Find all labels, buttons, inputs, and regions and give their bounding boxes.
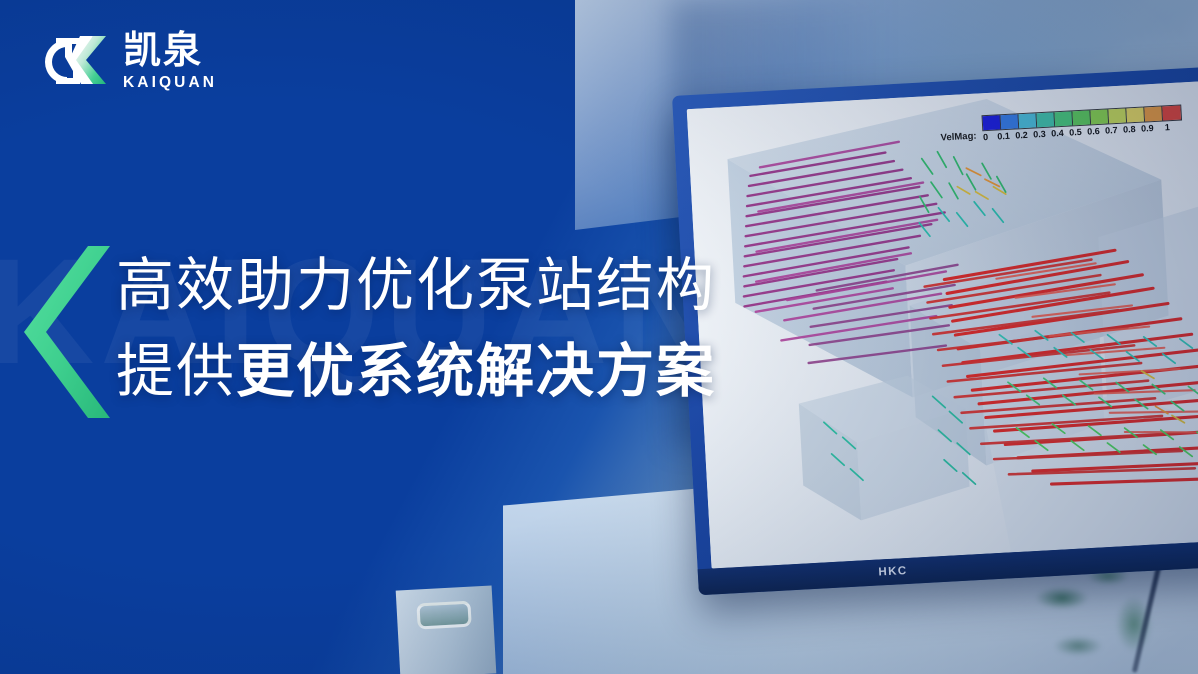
brand-name-cn: 凯泉 — [123, 32, 217, 70]
brand-logo[interactable]: 凯泉 KAIQUAN — [36, 30, 217, 91]
headline-line-1: 高效助力优化泵站结构 — [116, 243, 716, 329]
headline-line-2-bold: 更优系统解决方案 — [236, 339, 716, 404]
headline: 高效助力优化泵站结构 提供更优系统解决方案 — [116, 243, 716, 415]
marketing-banner: KAIQUAN — [0, 0, 1198, 674]
headline-line-2: 提供更优系统解决方案 — [116, 329, 716, 415]
brand-wordmark: 凯泉 KAIQUAN — [123, 30, 217, 91]
chevron-left-icon — [22, 244, 114, 420]
headline-line-2-light: 提供 — [116, 339, 236, 404]
kaiquan-k-monogram-icon — [36, 31, 110, 89]
brand-name-en: KAIQUAN — [123, 75, 217, 91]
